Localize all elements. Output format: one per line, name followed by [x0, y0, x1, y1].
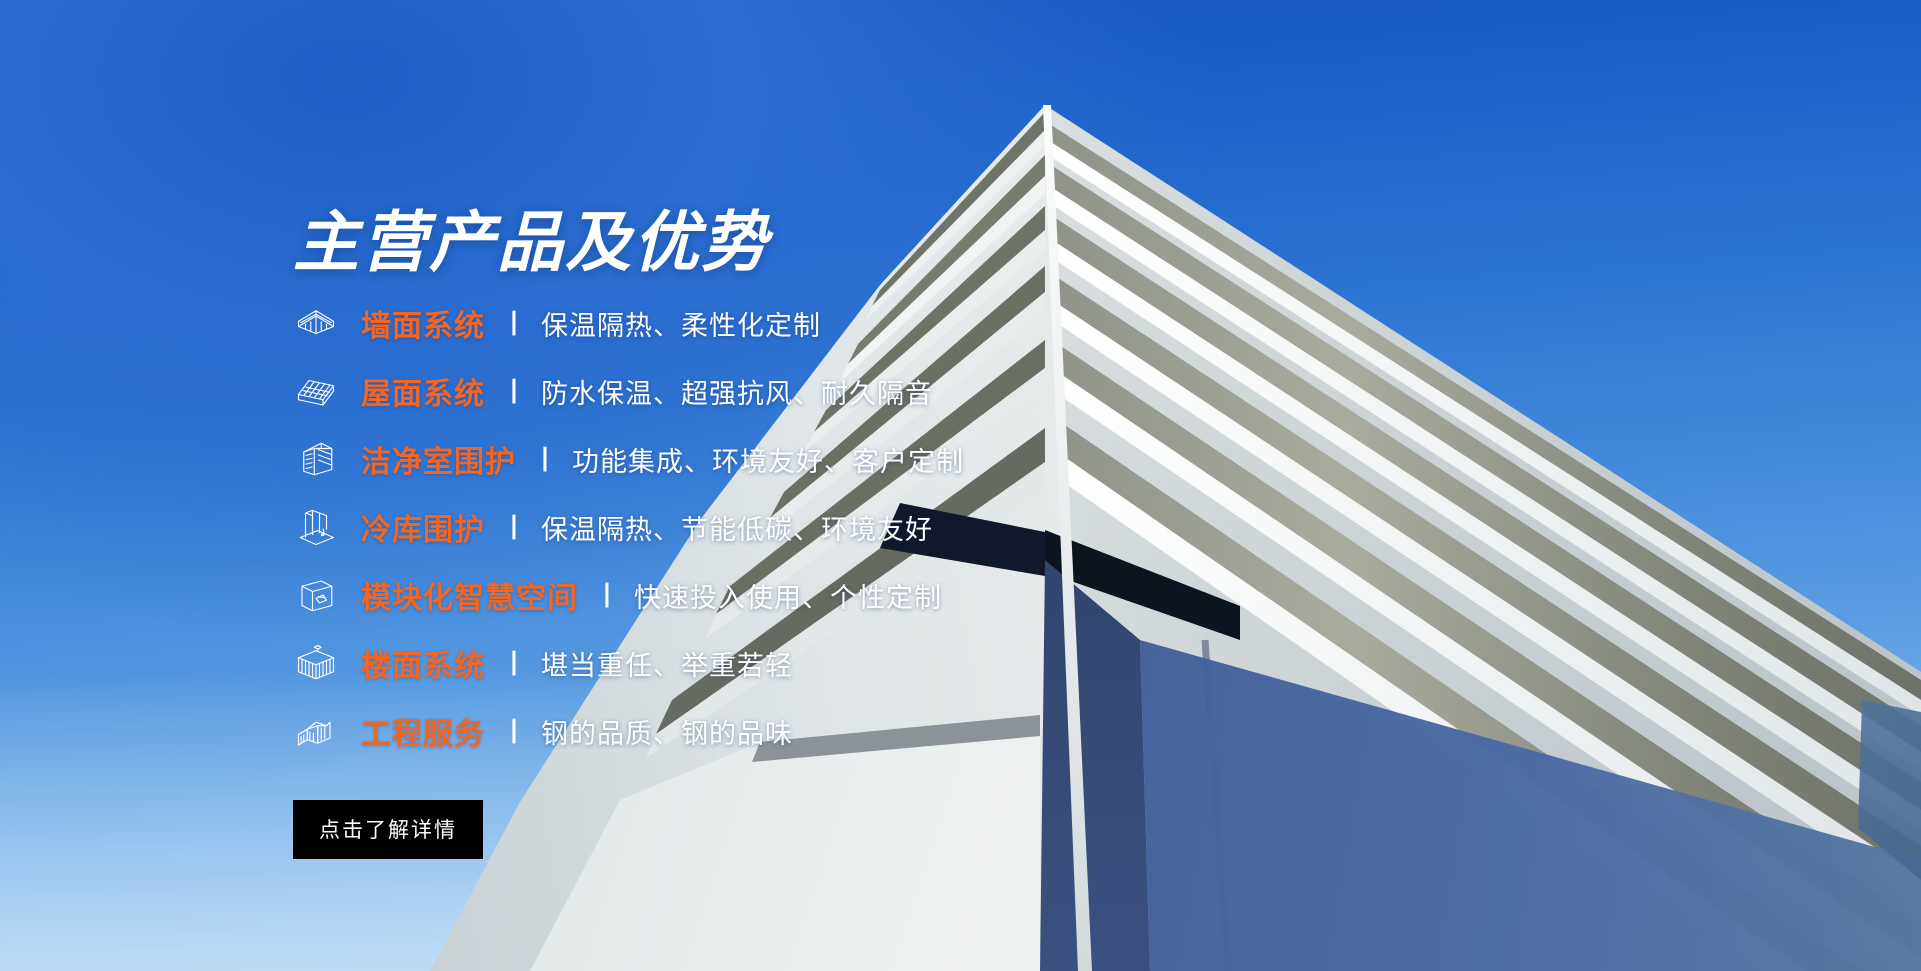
separator: 丨 [501, 508, 527, 545]
cold-storage-icon [293, 505, 339, 549]
list-item[interactable]: 洁净室围护 丨 功能集成、环境友好、客户定制 [293, 432, 964, 486]
product-desc: 快速投入使用、个性定制 [634, 576, 942, 615]
engineering-service-icon [293, 709, 339, 753]
product-desc: 保温隔热、节能低碳、环境友好 [541, 508, 933, 547]
list-item[interactable]: 屋面系统 丨 防水保温、超强抗风、耐久隔音 [293, 364, 964, 418]
product-desc: 堪当重任、举重若轻 [541, 644, 793, 683]
product-title: 冷库围护 [361, 505, 485, 549]
list-item[interactable]: 墙面系统 丨 保温隔热、柔性化定制 [293, 296, 964, 350]
modular-space-cube-icon [293, 573, 339, 617]
product-title: 楼面系统 [361, 641, 485, 685]
list-item[interactable]: 工程服务 丨 钢的品质、钢的品味 [293, 704, 964, 758]
product-title: 墙面系统 [361, 301, 485, 345]
banner-content: 主营产品及优势 墙面系统 丨 保温隔热、柔性化定制 [0, 0, 1100, 971]
page-title: 主营产品及优势 [293, 206, 769, 278]
cleanroom-building-icon [293, 437, 339, 481]
product-desc: 防水保温、超强抗风、耐久隔音 [541, 372, 933, 411]
product-advantage-banner: 主营产品及优势 墙面系统 丨 保温隔热、柔性化定制 [0, 0, 1921, 971]
product-desc: 保温隔热、柔性化定制 [541, 304, 821, 343]
list-item[interactable]: 冷库围护 丨 保温隔热、节能低碳、环境友好 [293, 500, 964, 554]
learn-more-button[interactable]: 点击了解详情 [293, 800, 483, 859]
roof-panel-icon [293, 369, 339, 413]
separator: 丨 [501, 304, 527, 341]
product-title: 屋面系统 [361, 369, 485, 413]
product-title: 模块化智慧空间 [361, 573, 578, 617]
product-title: 工程服务 [361, 709, 485, 753]
separator: 丨 [532, 440, 558, 477]
floor-deck-icon [293, 641, 339, 685]
wall-panel-icon [293, 301, 339, 345]
product-desc: 功能集成、环境友好、客户定制 [572, 440, 964, 479]
separator: 丨 [594, 576, 620, 613]
product-desc: 钢的品质、钢的品味 [541, 712, 793, 751]
separator: 丨 [501, 644, 527, 681]
separator: 丨 [501, 372, 527, 409]
product-title: 洁净室围护 [361, 437, 516, 481]
separator: 丨 [501, 712, 527, 749]
list-item[interactable]: 楼面系统 丨 堪当重任、举重若轻 [293, 636, 964, 690]
product-list: 墙面系统 丨 保温隔热、柔性化定制 屋面系统 丨 [293, 296, 964, 772]
list-item[interactable]: 模块化智慧空间 丨 快速投入使用、个性定制 [293, 568, 964, 622]
